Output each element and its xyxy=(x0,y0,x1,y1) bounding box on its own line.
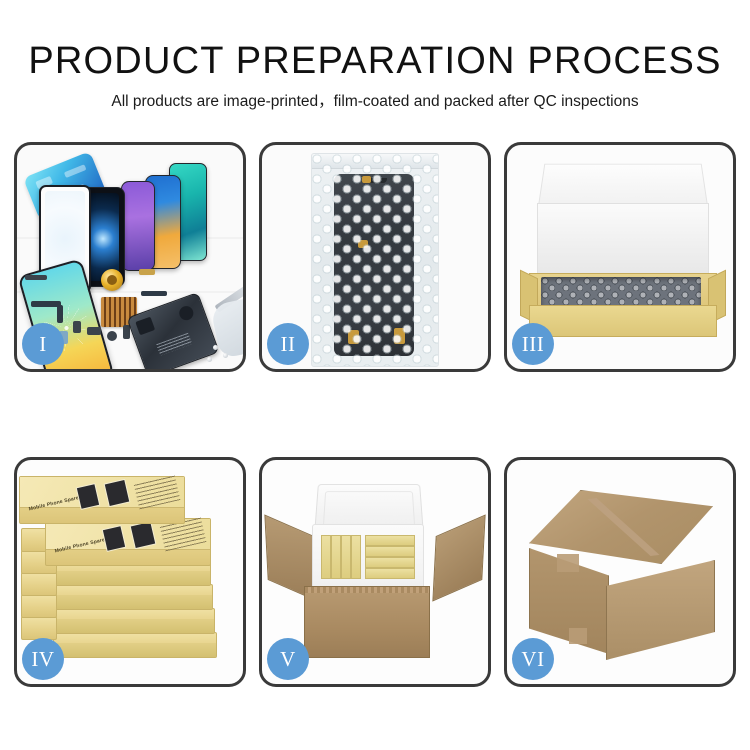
screw xyxy=(223,353,228,358)
gold-coil-part xyxy=(101,269,123,291)
stacked-box xyxy=(53,632,217,658)
inner-yellow-box xyxy=(365,568,415,579)
screw xyxy=(213,345,218,350)
inner-yellow-box xyxy=(341,535,351,579)
step-badge-1: I xyxy=(22,323,64,365)
stacked-box xyxy=(51,608,215,634)
process-step-6: VI xyxy=(504,457,736,687)
spare-part xyxy=(25,275,47,280)
page-title: PRODUCT PREPARATION PROCESS xyxy=(0,42,750,80)
labeled-box-2: Mobile Phone Spare Parts xyxy=(45,518,211,566)
carton-body xyxy=(304,586,430,658)
product-preparation-process-page: PRODUCT PREPARATION PROCESS All products… xyxy=(0,0,750,750)
process-step-5: V xyxy=(259,457,491,687)
bubble-texture xyxy=(312,154,438,366)
screw xyxy=(207,357,212,362)
flex-cable xyxy=(57,305,63,323)
step-badge-4: IV xyxy=(22,638,64,680)
stacked-box xyxy=(21,572,57,596)
carton-tape-upper xyxy=(557,554,579,572)
inner-yellow-box xyxy=(365,546,415,557)
spare-part xyxy=(73,321,81,333)
inner-yellow-box xyxy=(351,535,361,579)
bubble-wrap-bag xyxy=(311,153,439,367)
stacked-box xyxy=(49,584,213,610)
phone-screen-purple xyxy=(121,181,155,271)
process-step-4: Mobile Phone Spare Parts Mobile Phone Sp… xyxy=(14,457,246,687)
spare-part xyxy=(87,327,101,335)
stacked-box xyxy=(21,616,57,640)
header: PRODUCT PREPARATION PROCESS All products… xyxy=(0,0,750,110)
step-badge-2: II xyxy=(267,323,309,365)
spare-part xyxy=(107,331,117,341)
inner-yellow-box xyxy=(365,535,415,546)
inner-yellow-box xyxy=(331,535,341,579)
inner-yellow-box xyxy=(365,557,415,568)
inner-yellow-box xyxy=(321,535,331,579)
carton-flap-right xyxy=(432,514,485,601)
dark-bubble-wrap xyxy=(541,277,701,307)
process-step-1: I xyxy=(14,142,246,372)
process-step-3: III xyxy=(504,142,736,372)
process-step-grid: I II xyxy=(14,142,736,687)
labeled-box-1: Mobile Phone Spare Parts xyxy=(19,476,185,524)
step-badge-3: III xyxy=(512,323,554,365)
spare-part xyxy=(139,269,155,275)
stacked-box xyxy=(21,594,57,618)
carton-right-face xyxy=(606,560,715,660)
step-badge-6: VI xyxy=(512,638,554,680)
box-lid-front xyxy=(537,203,709,277)
page-subtitle: All products are image-printed，film-coat… xyxy=(0,94,750,110)
flex-cable xyxy=(141,291,167,296)
step-badge-5: V xyxy=(267,638,309,680)
kraft-tray-front xyxy=(529,305,717,337)
carton-tape-lower xyxy=(569,628,587,644)
process-step-2: II xyxy=(259,142,491,372)
